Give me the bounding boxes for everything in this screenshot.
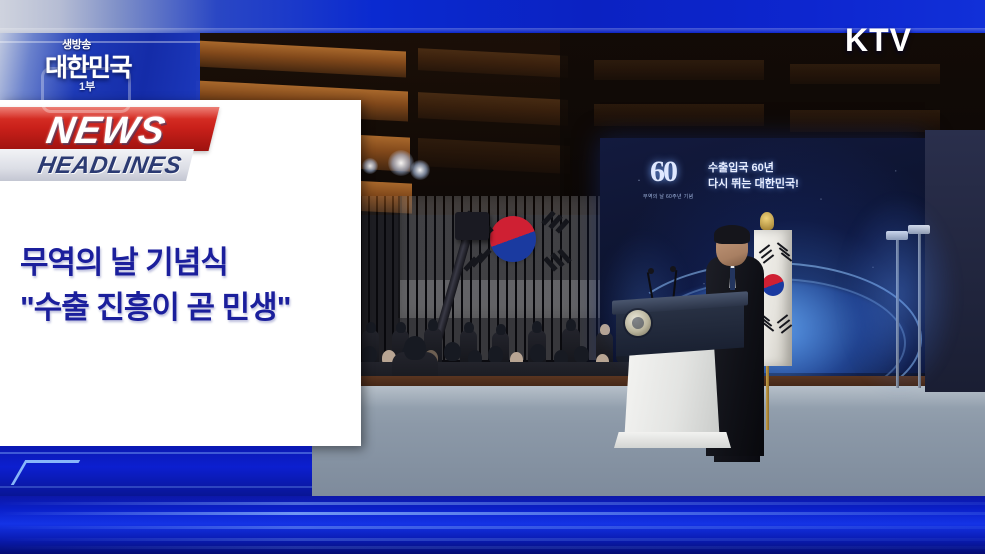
bottom-band-streak: [0, 526, 985, 529]
attendee-head: [444, 342, 461, 361]
microphone-head: [648, 268, 654, 274]
taegukgi-circle-mural: [490, 216, 536, 262]
headline-line: "수출 진흥이 곧 민생": [20, 285, 350, 330]
ceiling-beam: [594, 60, 764, 80]
bottom-graphic-band: [0, 496, 985, 554]
attendee-head: [362, 346, 377, 363]
ceiling-beam: [790, 110, 940, 132]
anniversary-sub-text: 무역의 날 60주년 기념: [643, 193, 693, 200]
microphone-head: [670, 266, 676, 272]
bottom-band-streak: [0, 546, 985, 549]
stage-haze: [844, 200, 954, 390]
podium-emblem: [625, 310, 651, 336]
headline-text-block: 무역의 날 기념식 "수출 진흥이 곧 민생": [20, 240, 350, 330]
top-graphic-band: [0, 0, 985, 33]
slogan-line-2: 다시 뛰는 대한민국!: [708, 176, 799, 192]
attendee-head: [530, 344, 546, 362]
taegukgi-taeguk: [762, 274, 784, 296]
speaker-tie: [730, 268, 735, 290]
news-banner-title: NEWS: [43, 110, 169, 153]
bottom-band-streak: [0, 502, 985, 505]
anniversary-60-mark: 60: [650, 155, 676, 189]
attendee-head: [574, 346, 589, 363]
broadcast-screen: 60 무역의 날 60주년 기념 수출입국 60년 다시 뛰는 대한민국!: [0, 0, 985, 554]
camera-crane-head: [455, 212, 489, 240]
backdrop-slogan: 수출입국 60년 다시 뛰는 대한민국!: [708, 160, 799, 192]
spotlight-glow: [410, 160, 430, 180]
slogan-line-1: 수출입국 60년: [708, 160, 799, 176]
bottom-band-streak: [0, 512, 985, 515]
foreground-attendee-head: [404, 336, 426, 360]
bottom-left-hook-decoration: [11, 460, 80, 485]
attendee-head: [488, 346, 503, 363]
podium-foot: [614, 432, 731, 448]
bottom-band-streak: [0, 538, 985, 541]
program-part-label: 1부: [79, 78, 95, 94]
bottom-left-graphic: [0, 446, 312, 498]
flag-finial: [760, 212, 774, 230]
spotlight-glow: [362, 158, 378, 174]
speaker-hair: [714, 225, 750, 244]
ceiling-beam: [790, 64, 940, 84]
news-banner-subtitle: HEADLINES: [36, 152, 184, 180]
podium-base: [624, 348, 720, 444]
bottom-left-streak: [0, 486, 312, 488]
ceiling-beam: [594, 104, 764, 126]
headline-line: 무역의 날 기념식: [20, 240, 350, 285]
network-logo-bug: KTV: [845, 22, 912, 59]
bottom-left-streak: [0, 452, 312, 454]
